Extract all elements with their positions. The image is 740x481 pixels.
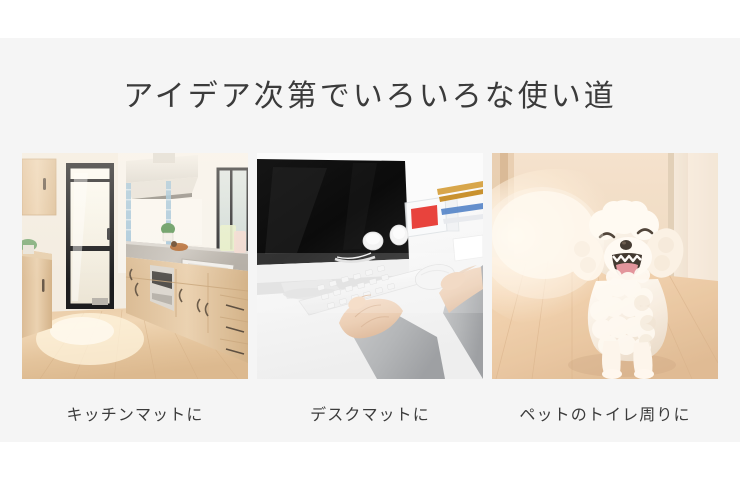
pet-photo <box>492 153 718 379</box>
promo-banner: アイデア次第でいろいろな使い道 <box>0 0 740 481</box>
banner-content: アイデア次第でいろいろな使い道 <box>0 0 740 481</box>
page-title: アイデア次第でいろいろな使い道 <box>0 78 740 116</box>
usage-card-caption: デスクマットに <box>257 401 483 425</box>
desk-photo <box>257 153 483 379</box>
usage-card-list: キッチンマットに <box>22 153 718 425</box>
usage-card-kitchen: キッチンマットに <box>22 153 248 425</box>
desk-photo-illustration <box>257 153 483 379</box>
usage-card-caption: キッチンマットに <box>22 401 248 425</box>
usage-card-desk: デスクマットに <box>257 153 483 425</box>
kitchen-photo <box>22 153 248 379</box>
kitchen-photo-illustration <box>22 153 248 379</box>
usage-card-pet: ペットのトイレ周りに <box>492 153 718 425</box>
usage-card-caption: ペットのトイレ周りに <box>492 401 718 425</box>
pet-photo-illustration <box>492 153 718 379</box>
